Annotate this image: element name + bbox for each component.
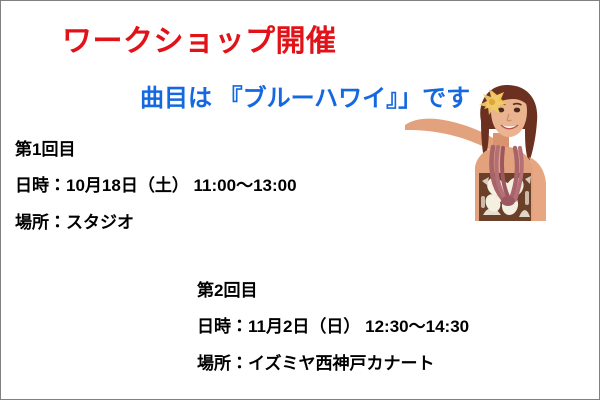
flyer-canvas: ワークショップ開催 曲目は 『ブルーハワイ』」です 第1回目 日時：10月18日… xyxy=(0,0,600,400)
session-1-datetime: 日時：10月18日（土） 11:00〜13:00 xyxy=(15,176,297,196)
dancer-eye-left xyxy=(498,108,504,113)
dancer-hair-front xyxy=(489,86,530,111)
session-2-venue: 場所：イズミヤ西神戸カナート xyxy=(197,354,469,374)
dancer-brow-left xyxy=(497,104,506,105)
session-1-heading: 第1回目 xyxy=(15,140,297,160)
dancer-hair-back xyxy=(480,85,537,163)
session-block-2: 第2回目 日時：11月2日（日） 12:30〜14:30 場所：イズミヤ西神戸カ… xyxy=(197,281,469,374)
dancer-lei xyxy=(491,147,521,202)
page-title: ワークショップ開催 xyxy=(62,25,337,58)
dancer-lip xyxy=(501,125,518,129)
dancer-eye-right xyxy=(514,108,520,113)
dancer-right-arm xyxy=(529,157,546,221)
dancer-nose xyxy=(507,114,512,121)
dancer-lei-knot xyxy=(501,196,515,206)
dancer-neck xyxy=(493,133,509,155)
dancer-dress xyxy=(479,173,531,221)
dancer-dress-floral-print xyxy=(481,174,531,217)
dancer-torso xyxy=(475,147,533,221)
dancer-face xyxy=(491,90,527,137)
session-2-heading: 第2回目 xyxy=(197,281,469,301)
session-1-venue: 場所：スタジオ xyxy=(15,213,297,233)
session-block-1: 第1回目 日時：10月18日（土） 11:00〜13:00 場所：スタジオ xyxy=(15,140,297,233)
dancer-left-arm xyxy=(405,119,493,151)
dancer-hair-flower-icon xyxy=(479,89,507,115)
session-2-datetime: 日時：11月2日（日） 12:30〜14:30 xyxy=(197,317,469,337)
dancer-brow-right xyxy=(513,104,522,105)
page-subtitle: 曲目は 『ブルーハワイ』」です xyxy=(140,86,470,112)
dancer-mouth xyxy=(501,125,518,129)
